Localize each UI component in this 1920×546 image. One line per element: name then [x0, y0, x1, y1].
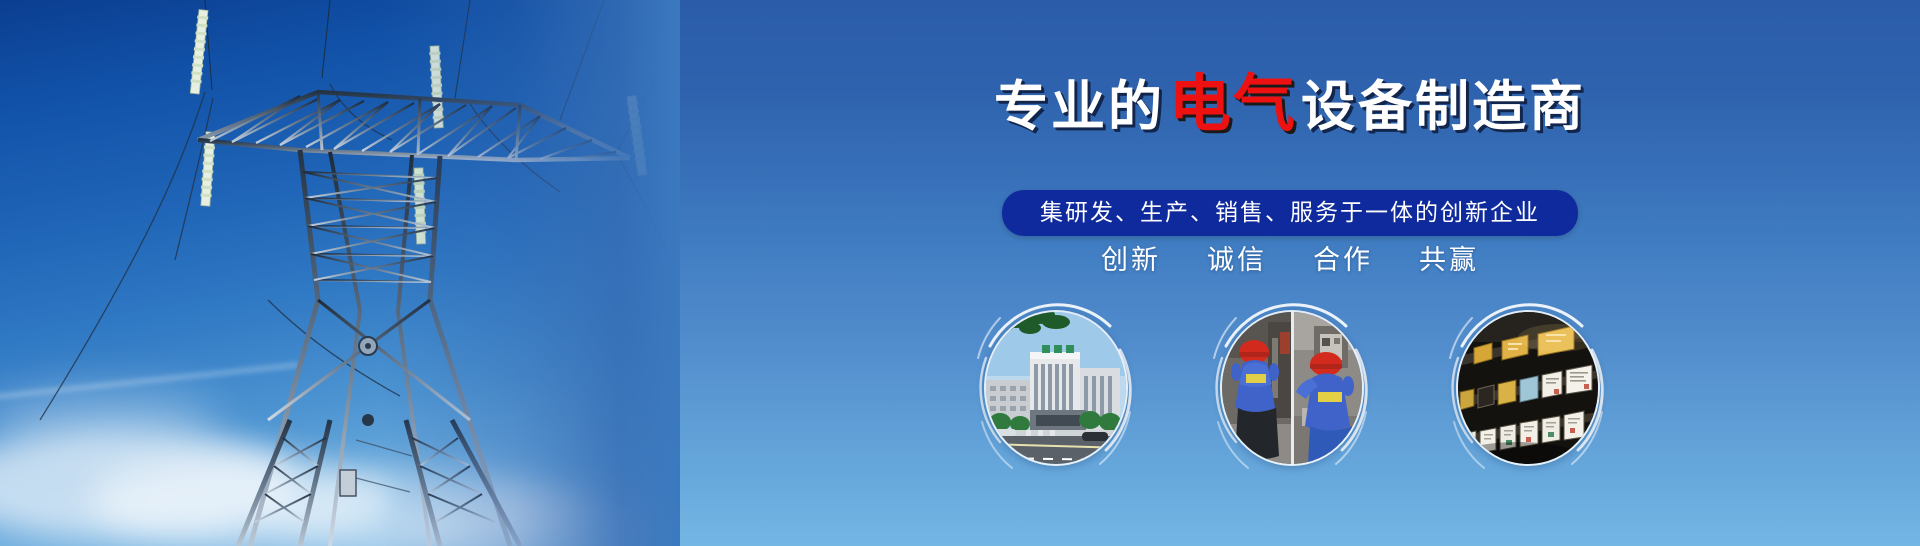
photo-circle-certificates[interactable] [1448, 304, 1604, 470]
subtitle-text: 集研发、生产、销售、服务于一体的创新企业 [1040, 199, 1540, 225]
workers-image [1220, 310, 1364, 466]
headline: 专业的电气设备制造商 [660, 74, 1920, 138]
building-image [984, 310, 1128, 466]
photo-edge-fade [380, 0, 680, 546]
keyword-integrity: 诚信 [1207, 243, 1267, 277]
banner-content: 专业的电气设备制造商 集研发、生产、销售、服务于一体的创新企业 创新 诚信 合作… [660, 0, 1920, 546]
keyword-cooperation: 合作 [1313, 243, 1373, 277]
transmission-tower-photo [0, 0, 680, 546]
keyword-winwin: 共赢 [1419, 243, 1479, 277]
photo-circle-list [660, 304, 1920, 470]
headline-accent: 电气 [1165, 70, 1301, 139]
headline-part1: 专业的 [994, 77, 1165, 137]
photo-circle-building[interactable] [976, 304, 1132, 470]
keyword-list: 创新 诚信 合作 共赢 [660, 243, 1920, 277]
certificates-image [1456, 310, 1600, 466]
hero-banner: 专业的电气设备制造商 集研发、生产、销售、服务于一体的创新企业 创新 诚信 合作… [0, 0, 1920, 546]
subtitle-pill: 集研发、生产、销售、服务于一体的创新企业 [1002, 190, 1578, 236]
photo-circle-workers[interactable] [1212, 304, 1368, 470]
keyword-innovation: 创新 [1101, 243, 1161, 277]
headline-part2: 设备制造商 [1301, 77, 1586, 137]
